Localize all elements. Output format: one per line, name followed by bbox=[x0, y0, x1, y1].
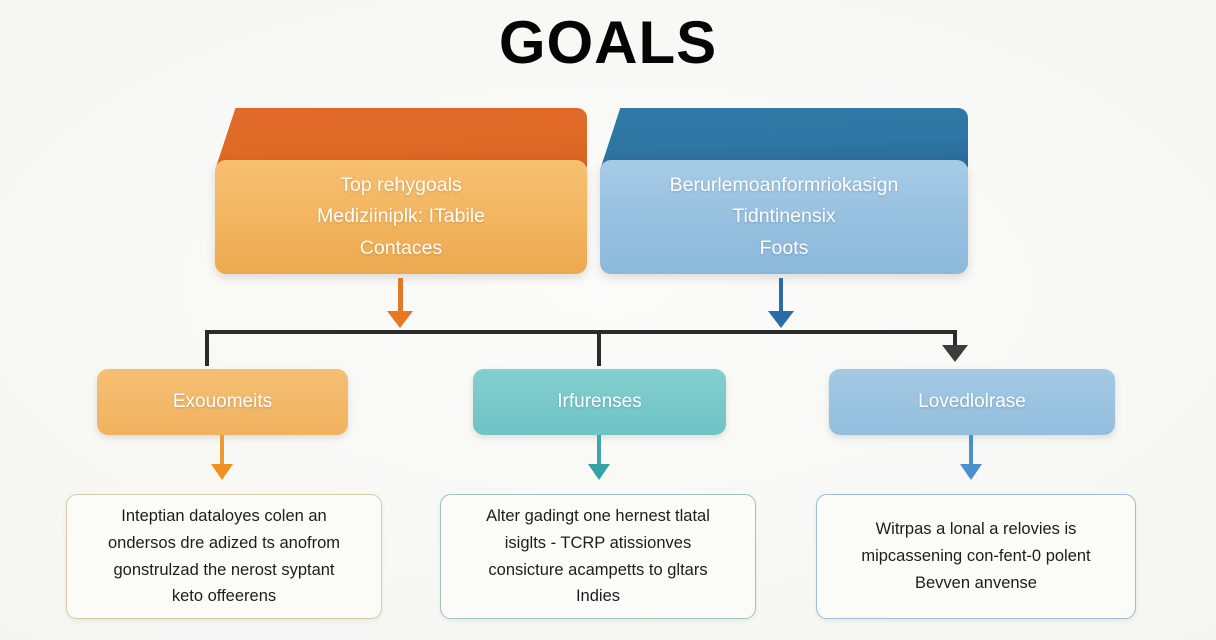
note-box-left-line-2: ondersos dre adized ts anofrom bbox=[108, 530, 340, 557]
note-box-right-line-1: Witrpas a lonal a relovies is bbox=[861, 516, 1090, 543]
top-box-right[interactable]: Berurlemoanformriokasign Tidntinensix Fo… bbox=[600, 108, 968, 276]
top-box-left[interactable]: Top rehygoals Mediziiniplk: ITabile Cont… bbox=[215, 108, 587, 276]
diagram-canvas: GOALS Top rehygoals Mediziiniplk: ITabil… bbox=[0, 0, 1216, 640]
top-box-right-line-2: Tidntinensix bbox=[670, 201, 899, 233]
conn-midright-to-note-line bbox=[969, 435, 973, 467]
note-box-left[interactable]: Inteptian dataloyes colen an ondersos dr… bbox=[66, 494, 382, 619]
top-box-right-body: Berurlemoanformriokasign Tidntinensix Fo… bbox=[600, 160, 968, 274]
conn-topright-to-bus-arrowhead bbox=[768, 311, 794, 328]
note-box-center-line-3: consicture acampetts to gltars bbox=[486, 557, 710, 584]
mid-box-right-label: Lovedlolrase bbox=[918, 387, 1026, 416]
page-title: GOALS bbox=[0, 8, 1216, 77]
note-box-right-line-2: mipcassening con-fent-0 polent bbox=[861, 543, 1090, 570]
mid-box-center-label: Irfurenses bbox=[557, 387, 641, 416]
conn-midleft-to-note-arrowhead bbox=[211, 464, 233, 480]
note-box-left-line-3: gonstrulzad the nerost syptant bbox=[108, 557, 340, 584]
top-box-left-body: Top rehygoals Mediziiniplk: ITabile Cont… bbox=[215, 160, 587, 274]
bus-horizontal-line bbox=[205, 330, 957, 334]
top-box-right-line-3: Foots bbox=[670, 233, 899, 265]
note-box-right-line-3: Bevven anvense bbox=[861, 570, 1090, 597]
note-box-center[interactable]: Alter gadingt one hernest tlatal isiglts… bbox=[440, 494, 756, 619]
note-box-center-line-4: Indies bbox=[486, 583, 710, 610]
bus-drop-left bbox=[205, 330, 209, 366]
top-box-left-line-1: Top rehygoals bbox=[317, 170, 485, 202]
top-box-left-line-3: Contaces bbox=[317, 233, 485, 265]
conn-topright-to-bus-line bbox=[779, 278, 783, 314]
conn-topleft-to-bus-arrowhead bbox=[387, 311, 413, 328]
note-box-right[interactable]: Witrpas a lonal a relovies is mipcasseni… bbox=[816, 494, 1136, 619]
conn-bus-to-midright-arrowhead bbox=[942, 345, 968, 362]
conn-topleft-to-bus-line bbox=[398, 278, 403, 314]
top-box-right-line-1: Berurlemoanformriokasign bbox=[670, 170, 899, 202]
conn-midright-to-note-arrowhead bbox=[960, 464, 982, 480]
mid-box-left-label: Exouomeits bbox=[173, 387, 272, 416]
note-box-left-line-1: Inteptian dataloyes colen an bbox=[108, 503, 340, 530]
mid-box-right[interactable]: Lovedlolrase bbox=[829, 369, 1115, 435]
conn-midleft-to-note-line bbox=[220, 435, 224, 467]
note-box-center-line-1: Alter gadingt one hernest tlatal bbox=[486, 503, 710, 530]
mid-box-left[interactable]: Exouomeits bbox=[97, 369, 348, 435]
bus-drop-center bbox=[597, 330, 601, 366]
top-box-left-line-2: Mediziiniplk: ITabile bbox=[317, 201, 485, 233]
note-box-left-line-4: keto offeerens bbox=[108, 583, 340, 610]
note-box-center-line-2: isiglts - TCRP atissionves bbox=[486, 530, 710, 557]
conn-midcenter-to-note-arrowhead bbox=[588, 464, 610, 480]
mid-box-center[interactable]: Irfurenses bbox=[473, 369, 726, 435]
conn-midcenter-to-note-line bbox=[597, 435, 601, 467]
